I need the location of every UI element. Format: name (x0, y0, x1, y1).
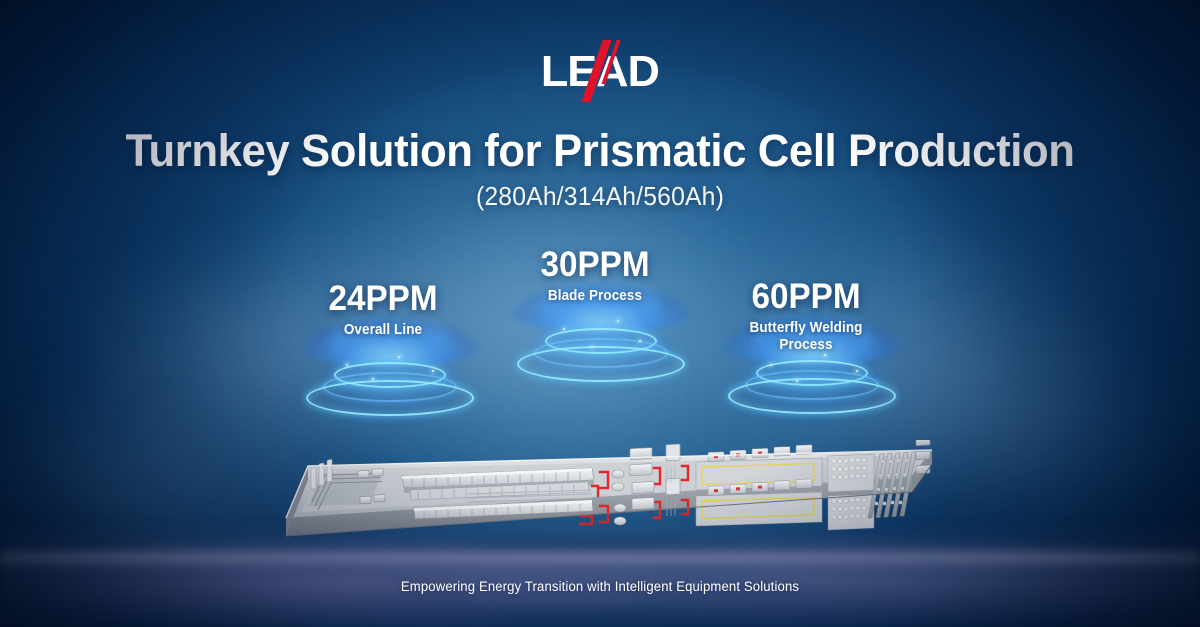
hologram-spark (639, 340, 641, 342)
hologram-spark (824, 354, 826, 356)
brand-logo: LEAD (0, 44, 1200, 100)
metric-value: 30PPM (481, 246, 709, 284)
hologram-ring (334, 362, 446, 388)
hologram-ring (545, 328, 657, 354)
hologram-ring (517, 346, 685, 382)
footer-tagline: Empowering Energy Transition with Intell… (18, 578, 1182, 596)
hologram-spark (346, 364, 348, 366)
hologram-glow (737, 350, 887, 408)
hologram-spark (372, 378, 374, 380)
hologram-spark (796, 380, 798, 382)
hologram-spark (432, 370, 434, 372)
metric-callout-butterfly-welding: 60PPM Butterfly Welding Process (686, 278, 926, 354)
hologram-ring (756, 360, 868, 386)
poster-canvas: LEAD Turnkey Solution for Prismatic Cell… (0, 0, 1200, 627)
hologram-ring (728, 378, 896, 414)
metric-value: 60PPM (692, 278, 920, 316)
metric-callout-blade-process: 30PPM Blade Process (475, 246, 715, 305)
hologram-spark (563, 328, 565, 330)
production-line-illustration (262, 440, 942, 570)
hologram-spark (617, 320, 619, 322)
hologram-ring (534, 338, 668, 368)
hologram-spark (591, 346, 593, 348)
metric-callout-overall-line: 24PPM Overall Line (263, 280, 503, 339)
hologram-spark (856, 370, 858, 372)
hologram-ring (323, 372, 457, 402)
page-subtitle: (280Ah/314Ah/560Ah) (30, 180, 1170, 212)
hologram-glow (315, 352, 465, 410)
hologram-glow (526, 318, 676, 376)
metric-value: 24PPM (269, 280, 497, 318)
hologram-ring (306, 380, 474, 416)
metric-label: Overall Line (271, 322, 494, 339)
logo-mark: LEAD (540, 46, 660, 98)
metric-label: Butterfly Welding Process (736, 320, 876, 354)
hologram-ring (745, 370, 879, 400)
page-title: Turnkey Solution for Prismatic Cell Prod… (18, 126, 1182, 176)
hologram-spark (398, 356, 400, 358)
metric-label: Blade Process (483, 288, 706, 305)
production-line-render (262, 440, 942, 570)
hologram-spark (770, 364, 772, 366)
